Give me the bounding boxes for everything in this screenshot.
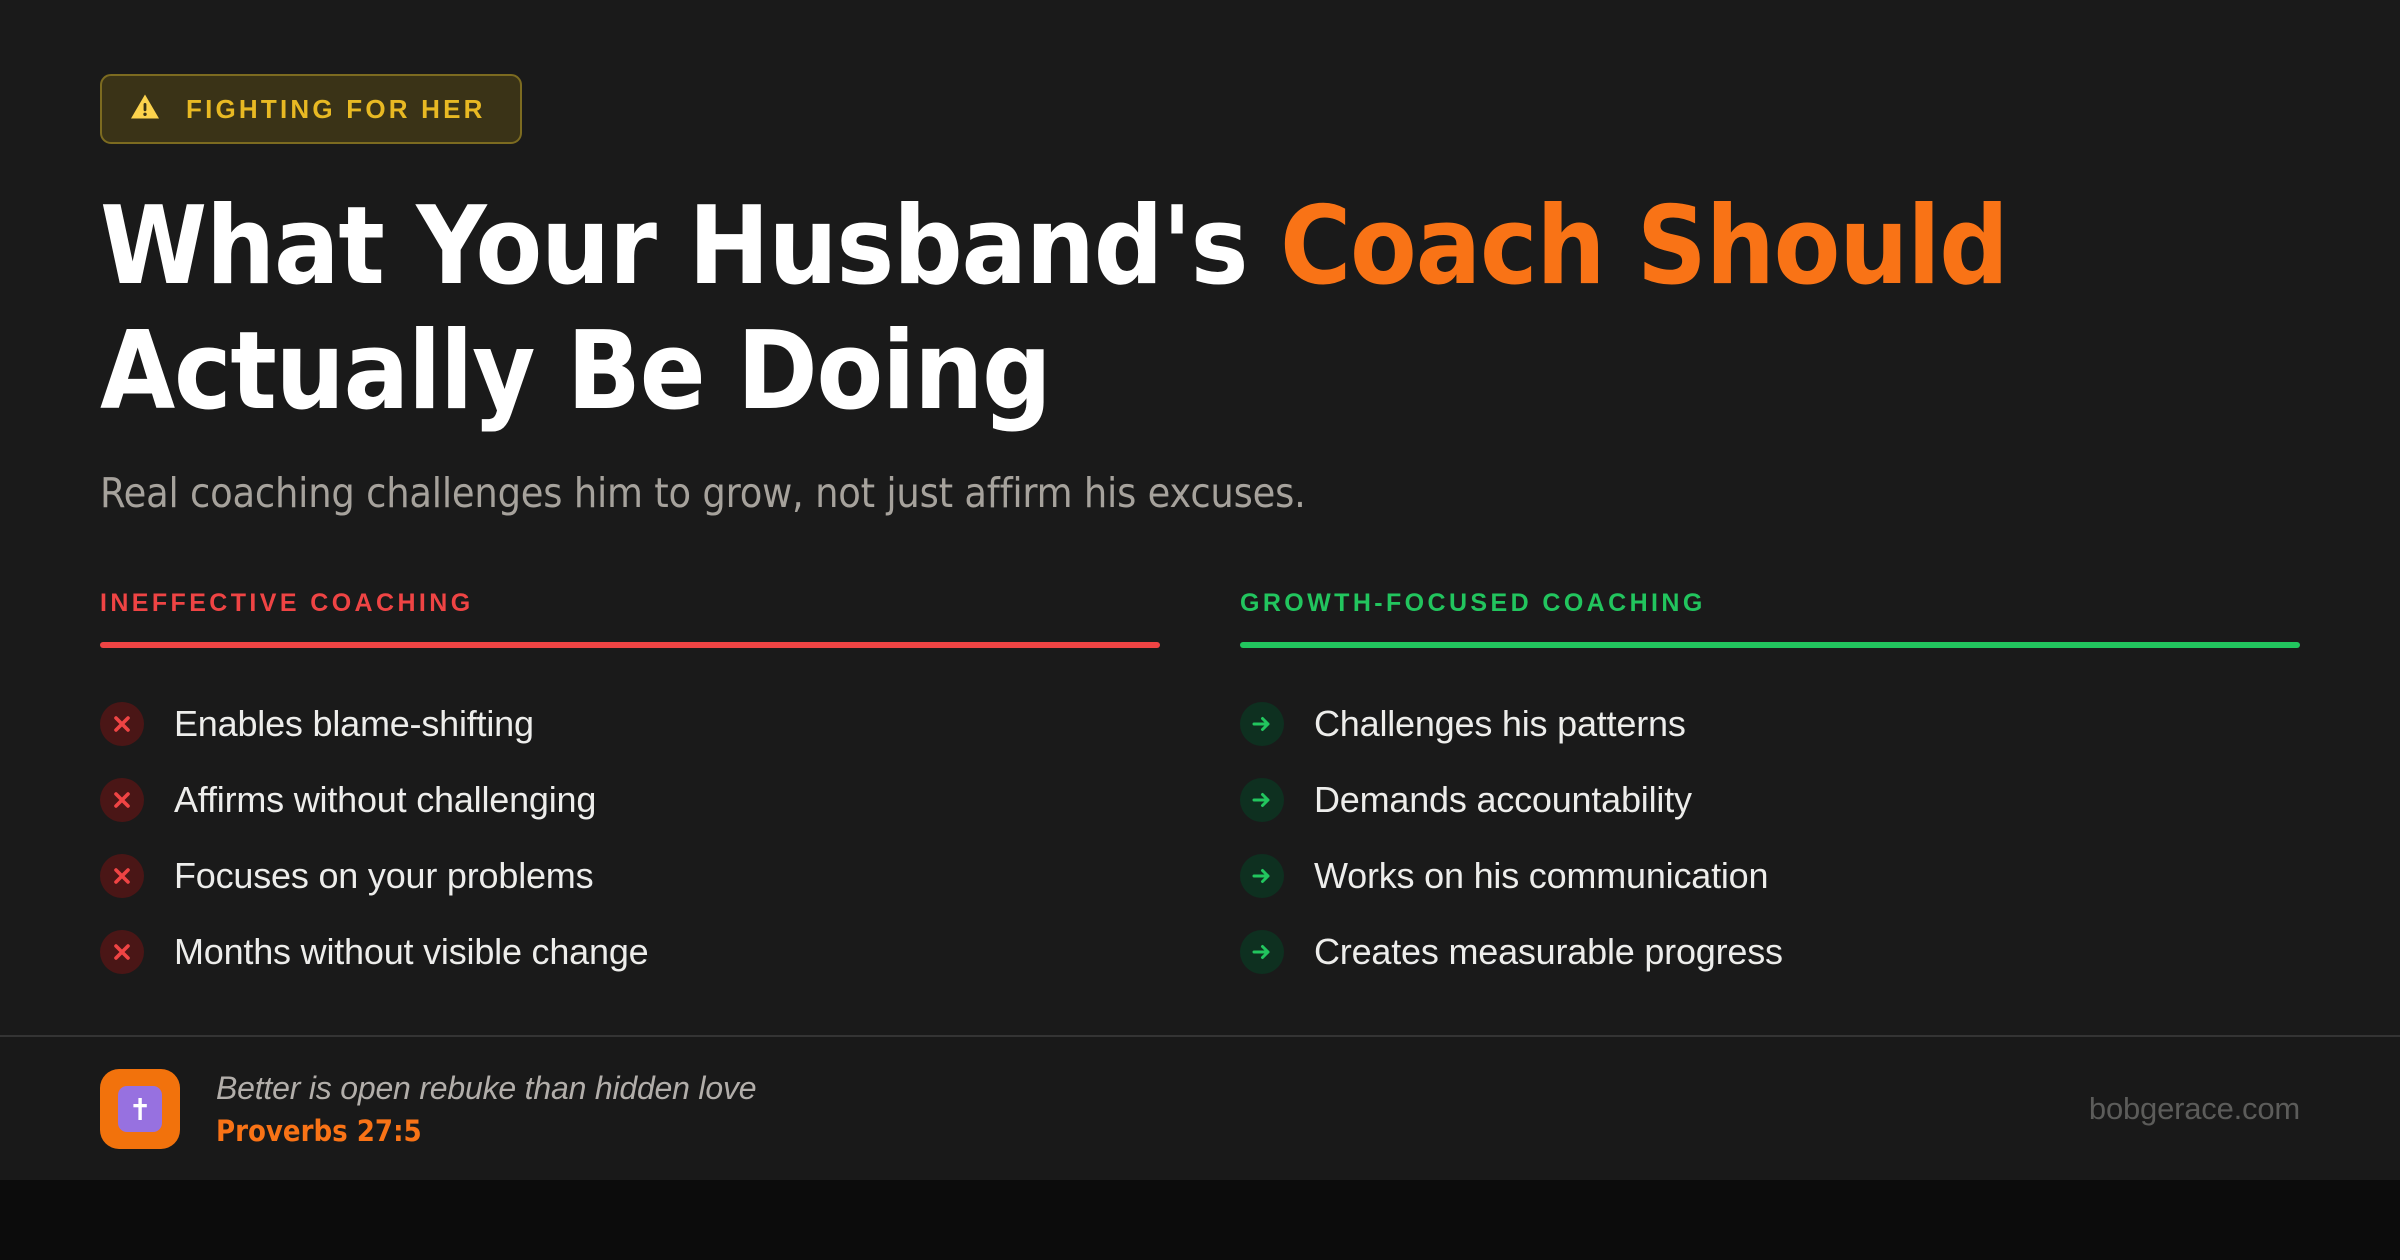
cross-icon bbox=[118, 1086, 162, 1132]
list-item-label: Enables blame-shifting bbox=[174, 703, 534, 745]
page-subtitle: Real coaching challenges him to grow, no… bbox=[100, 469, 2300, 517]
list-item-label: Works on his communication bbox=[1314, 855, 1768, 897]
column-title-growth-focused: GROWTH-FOCUSED COACHING bbox=[1240, 589, 2300, 618]
list-item: Creates measurable progress bbox=[1240, 914, 2300, 990]
verse-block: Better is open rebuke than hidden love P… bbox=[100, 1069, 756, 1149]
slide-card: FIGHTING FOR HER What Your Husband's Coa… bbox=[0, 0, 2400, 1180]
category-badge-label: FIGHTING FOR HER bbox=[186, 94, 486, 125]
category-badge: FIGHTING FOR HER bbox=[100, 74, 522, 144]
x-mark-icon bbox=[100, 778, 144, 822]
arrow-right-icon bbox=[1240, 930, 1284, 974]
list-item-label: Creates measurable progress bbox=[1314, 931, 1783, 973]
x-mark-icon bbox=[100, 854, 144, 898]
verse-text: Better is open rebuke than hidden love P… bbox=[216, 1070, 756, 1148]
verse-reference: Proverbs 27:5 bbox=[216, 1114, 756, 1148]
arrow-right-icon bbox=[1240, 702, 1284, 746]
brand-logo bbox=[100, 1069, 180, 1149]
x-mark-icon bbox=[100, 930, 144, 974]
list-ineffective: Enables blame-shifting Affirms without c… bbox=[100, 686, 1160, 990]
list-item: Months without visible change bbox=[100, 914, 1160, 990]
site-url: bobgerace.com bbox=[2089, 1091, 2300, 1127]
arrow-right-icon bbox=[1240, 854, 1284, 898]
headline-part-2: Actually Be Doing bbox=[100, 309, 1051, 434]
list-item: Works on his communication bbox=[1240, 838, 2300, 914]
column-growth-focused-coaching: GROWTH-FOCUSED COACHING Challenges his p… bbox=[1240, 589, 2300, 990]
list-growth-focused: Challenges his patterns Demands accounta… bbox=[1240, 686, 2300, 990]
headline-accent: Coach Should bbox=[1280, 184, 2008, 309]
column-title-ineffective: INEFFECTIVE COACHING bbox=[100, 589, 1160, 618]
list-item-label: Focuses on your problems bbox=[174, 855, 593, 897]
comparison-columns: INEFFECTIVE COACHING Enables blame-shift… bbox=[100, 589, 2300, 990]
list-item: Demands accountability bbox=[1240, 762, 2300, 838]
list-item: Focuses on your problems bbox=[100, 838, 1160, 914]
list-item-label: Months without visible change bbox=[174, 931, 648, 973]
slide-content: FIGHTING FOR HER What Your Husband's Coa… bbox=[0, 0, 2400, 1035]
list-item: Challenges his patterns bbox=[1240, 686, 2300, 762]
list-item-label: Challenges his patterns bbox=[1314, 703, 1686, 745]
column-ineffective-coaching: INEFFECTIVE COACHING Enables blame-shift… bbox=[100, 589, 1160, 990]
slide-footer: Better is open rebuke than hidden love P… bbox=[0, 1035, 2400, 1180]
page-title: What Your Husband's Coach Should Actuall… bbox=[100, 184, 2110, 435]
list-item-label: Demands accountability bbox=[1314, 779, 1692, 821]
warning-triangle-icon bbox=[130, 93, 160, 125]
verse-quote: Better is open rebuke than hidden love bbox=[216, 1070, 756, 1107]
column-divider-growth-focused bbox=[1240, 642, 2300, 648]
arrow-right-icon bbox=[1240, 778, 1284, 822]
list-item: Enables blame-shifting bbox=[100, 686, 1160, 762]
list-item-label: Affirms without challenging bbox=[174, 779, 596, 821]
x-mark-icon bbox=[100, 702, 144, 746]
column-divider-ineffective bbox=[100, 642, 1160, 648]
headline-part-1: What Your Husband's bbox=[100, 184, 1280, 309]
list-item: Affirms without challenging bbox=[100, 762, 1160, 838]
